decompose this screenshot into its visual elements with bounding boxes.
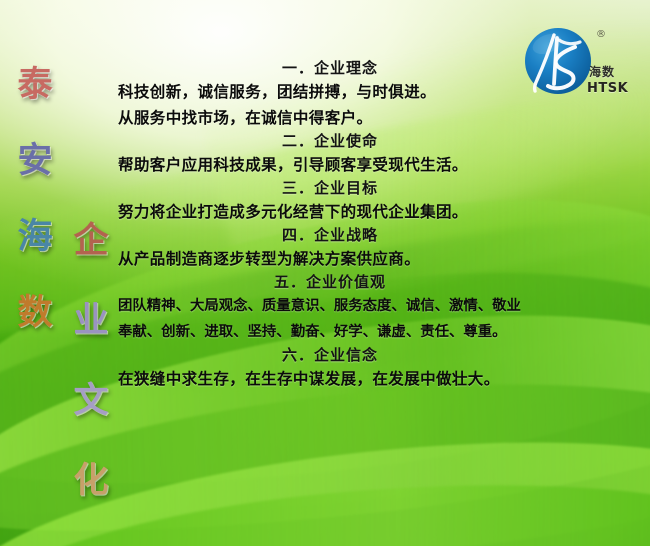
section-heading: 六．企业信念 (118, 345, 542, 366)
section-line: 从服务中找市场，在诚信中得客户。 (118, 105, 542, 131)
vertical-char: 海 (17, 210, 52, 262)
vertical-char: 化 (73, 454, 108, 506)
vertical-char: 企 (73, 214, 108, 266)
vertical-title-culture: 企 业 文 化 (64, 214, 118, 534)
section-line: 科技创新，诚信服务，团结拼搏，与时俱进。 (118, 79, 542, 105)
vertical-char: 泰 (17, 58, 52, 110)
culture-content: 一．企业理念 科技创新，诚信服务，团结拼搏，与时俱进。 从服务中找市场，在诚信中… (118, 58, 542, 392)
section-block: 四．企业战略 从产品制造商逐步转型为解决方案供应商。 (118, 225, 542, 272)
section-heading: 一．企业理念 (118, 58, 542, 79)
section-block: 二．企业使命 帮助客户应用科技成果，引导顾客享受现代生活。 (118, 131, 542, 178)
section-block: 一．企业理念 科技创新，诚信服务，团结拼搏，与时俱进。 从服务中找市场，在诚信中… (118, 58, 542, 131)
vertical-char: 业 (73, 294, 108, 346)
section-heading: 五．企业价值观 (118, 272, 542, 293)
section-block: 三．企业目标 努力将企业打造成多元化经营下的现代企业集团。 (118, 178, 542, 225)
section-line: 帮助客户应用科技成果，引导顾客享受现代生活。 (118, 152, 542, 178)
section-line: 在狭缝中求生存，在生存中谋发展，在发展中做壮大。 (118, 366, 542, 392)
brand-name-en: HTSK (587, 82, 628, 96)
vertical-title-company: 泰 安 海 数 (8, 58, 62, 362)
section-heading: 二．企业使命 (118, 131, 542, 152)
section-block: 六．企业信念 在狭缝中求生存，在生存中谋发展，在发展中做壮大。 (118, 345, 542, 392)
vertical-char: 文 (73, 374, 108, 426)
section-line: 团队精神、大局观念、质量意识、服务态度、诚信、激情、敬业 (118, 293, 542, 319)
registered-trademark-icon: ® (596, 30, 606, 40)
poster-canvas: ® 海数 HTSK 泰 安 海 数 企 业 文 化 一．企业理念 科技创新，诚信… (0, 0, 650, 546)
section-block: 五．企业价值观 团队精神、大局观念、质量意识、服务态度、诚信、激情、敬业 奉献、… (118, 272, 542, 345)
section-line: 从产品制造商逐步转型为解决方案供应商。 (118, 246, 542, 272)
section-heading: 三．企业目标 (118, 178, 542, 199)
section-heading: 四．企业战略 (118, 225, 542, 246)
brand-name-cn: 海数 (589, 66, 615, 79)
section-line: 奉献、创新、进取、坚持、勤奋、好学、谦虚、责任、尊重。 (118, 319, 542, 345)
section-line: 努力将企业打造成多元化经营下的现代企业集团。 (118, 199, 542, 225)
vertical-char: 数 (17, 286, 52, 338)
vertical-char: 安 (17, 134, 52, 186)
